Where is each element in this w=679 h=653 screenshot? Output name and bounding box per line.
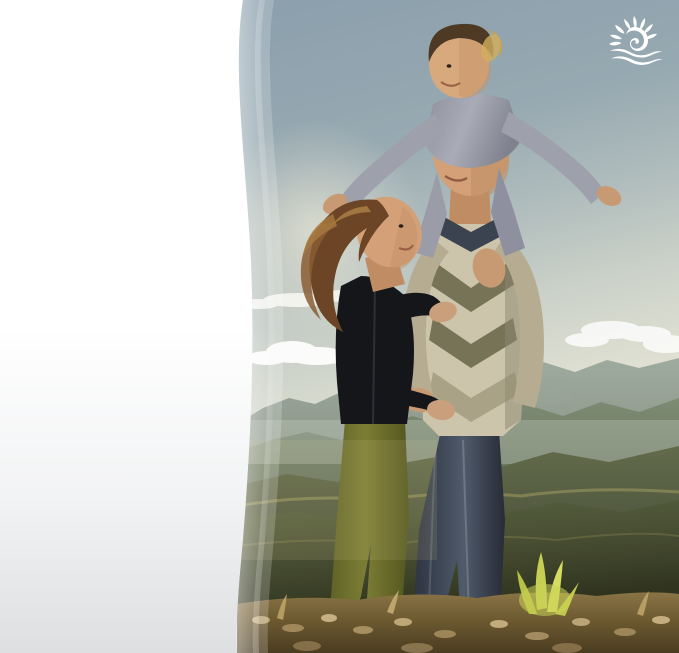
feature-body: At every level of business, superior qua… [0, 147, 244, 229]
benefits-panel: Superior Quality At every level of busin… [0, 0, 244, 653]
feature-made-with-integrity: Made with Integrity Our products are mad… [0, 263, 244, 384]
lifestyle-photo [237, 0, 679, 653]
feature-title: Product Transparency [0, 418, 244, 468]
feature-title: Made with Integrity [0, 263, 244, 313]
feature-product-transparency: Product Transparency Third-party test re… [0, 418, 244, 559]
feature-body: Our products are made for your family’s … [0, 322, 244, 384]
feature-title: Superior Quality [0, 88, 244, 138]
promo-image: Superior Quality At every level of busin… [0, 0, 679, 653]
feature-body: Third-party test results show why so man… [0, 477, 244, 559]
feature-superior-quality: Superior Quality At every level of busin… [0, 88, 244, 229]
sun-wave-logo-icon [604, 14, 666, 66]
